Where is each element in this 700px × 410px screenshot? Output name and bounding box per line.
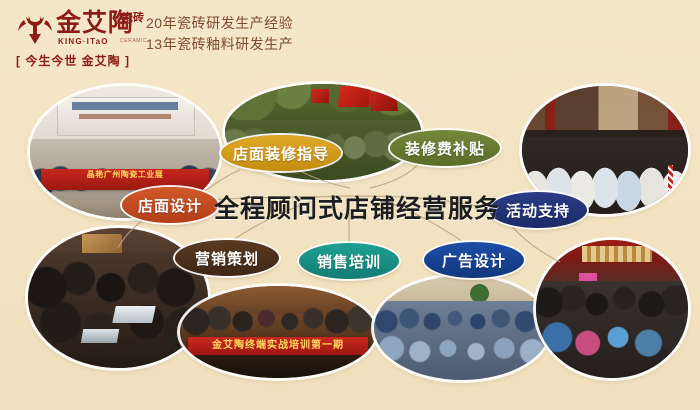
pill-event-support[interactable]: 活动支持 [489,192,587,228]
brand-pinyin: KING·ITaO [58,37,109,46]
brand-product-word: 瓷砖 [122,12,144,24]
brand-product-word-sub: CERAMIC [120,38,147,44]
promotional-banner: 金艾陶 KING·ITaO 瓷砖 CERAMIC [ 今生今世 金艾陶 ] 20… [0,0,700,410]
pill-sales-training[interactable]: 销售培训 [299,243,399,279]
page-title: 全程顾问式店铺经营服务 [218,185,496,229]
pill-marketing-planning[interactable]: 营销策划 [175,240,279,276]
banner-header: 金艾陶 KING·ITaO 瓷砖 CERAMIC [ 今生今世 金艾陶 ] 20… [0,0,700,72]
pill-store-design[interactable]: 店面设计 [122,187,218,223]
header-line-1: 20年瓷砖研发生产经验 [146,13,293,34]
crown-antler-logo-icon [14,14,56,44]
header-line-2: 13年瓷砖釉料研发生产 [146,34,293,55]
pill-decoration-subsidy[interactable]: 装修费补贴 [390,130,500,166]
pill-ad-design[interactable]: 广告设计 [424,242,524,278]
brand-logo[interactable]: 金艾陶 KING·ITaO 瓷砖 CERAMIC [ 今生今世 金艾陶 ] [10,8,145,66]
header-selling-points: 20年瓷砖研发生产经验 13年瓷砖釉料研发生产 [146,13,293,55]
pill-decoration-guidance[interactable]: 店面装修指导 [221,135,341,171]
brand-slogan: [ 今生今世 金艾陶 ] [16,52,130,69]
